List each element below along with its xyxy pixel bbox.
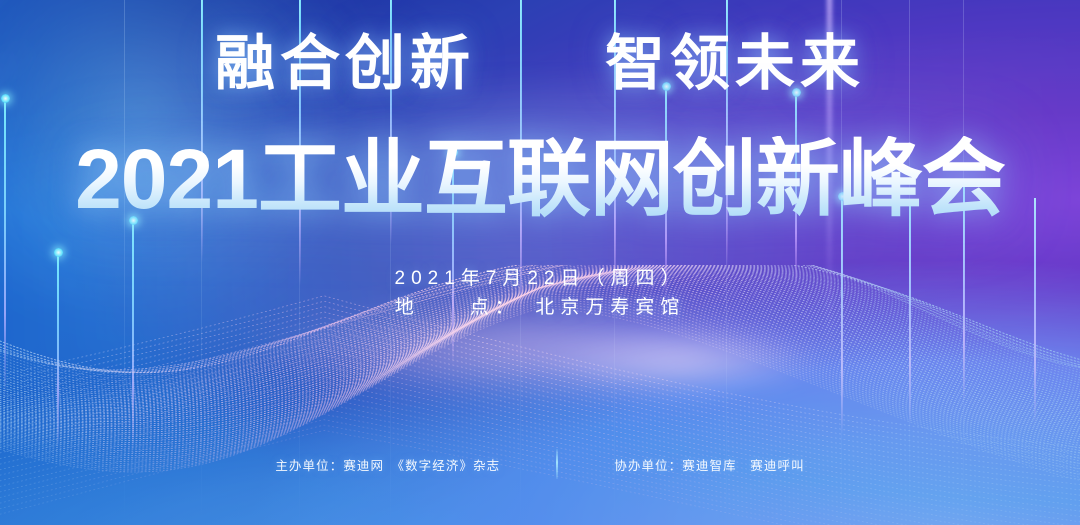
poster-footer: 主办单位：赛迪网 《数字经济》杂志 协办单位：赛迪智库 赛迪呼叫	[0, 449, 1080, 479]
event-date: 2021年7月22日（周四）	[0, 264, 1080, 293]
footer-divider	[556, 449, 558, 479]
footer-co-organizer: 协办单位：赛迪智库 赛迪呼叫	[614, 455, 804, 474]
poster-main-title: 2021工业互联网创新峰会	[0, 136, 1080, 223]
event-location: 地 点： 北京万寿宾馆	[0, 293, 1080, 324]
poster-content: 融合创新 智领未来 2021工业互联网创新峰会 2021年7月22日（周四） 地…	[0, 0, 1080, 525]
footer-organizer: 主办单位：赛迪网 《数字经济》杂志	[275, 455, 500, 474]
event-details: 2021年7月22日（周四） 地 点： 北京万寿宾馆	[0, 264, 1080, 324]
conference-poster: 融合创新 智领未来 2021工业互联网创新峰会 2021年7月22日（周四） 地…	[0, 0, 1080, 525]
poster-tagline: 融合创新 智领未来	[0, 34, 1080, 94]
